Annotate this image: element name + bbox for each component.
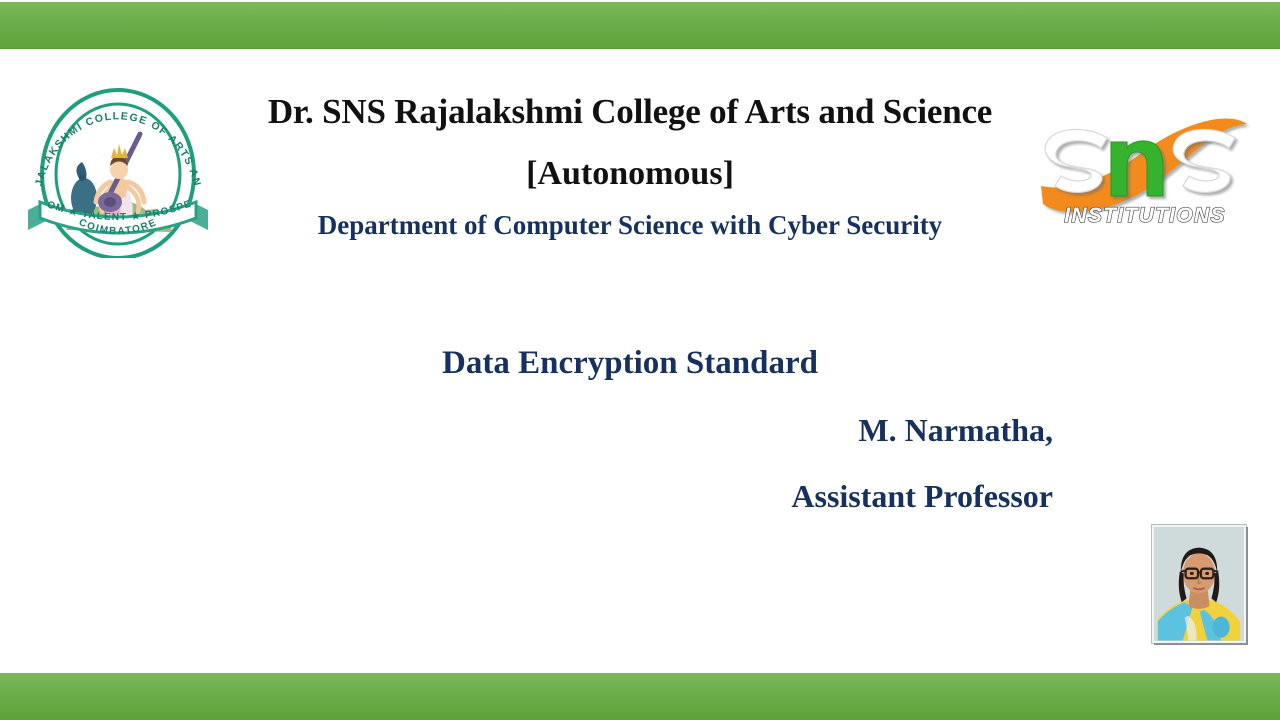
college-name: Dr. SNS Rajalakshmi College of Arts and … [0,92,1260,131]
heading-block: Dr. SNS Rajalakshmi College of Arts and … [0,92,1260,240]
top-banner-bar [0,2,1280,49]
department-name: Department of Computer Science with Cybe… [0,211,1260,241]
autonomous-label: [Autonomous] [0,155,1260,192]
presenter-portrait-photo [1152,525,1246,643]
presenter-block: M. Narmatha, Assistant Professor [0,414,1053,512]
presentation-title-slide: Dr. SNS RAJALAKSHMI COLLEGE OF ARTS AND … [0,0,1280,720]
bottom-banner-bar [0,673,1280,720]
presenter-name: M. Narmatha, [858,412,1053,448]
presentation-topic-title: Data Encryption Standard [0,345,1260,382]
presenter-role: Assistant Professor [0,480,1053,512]
